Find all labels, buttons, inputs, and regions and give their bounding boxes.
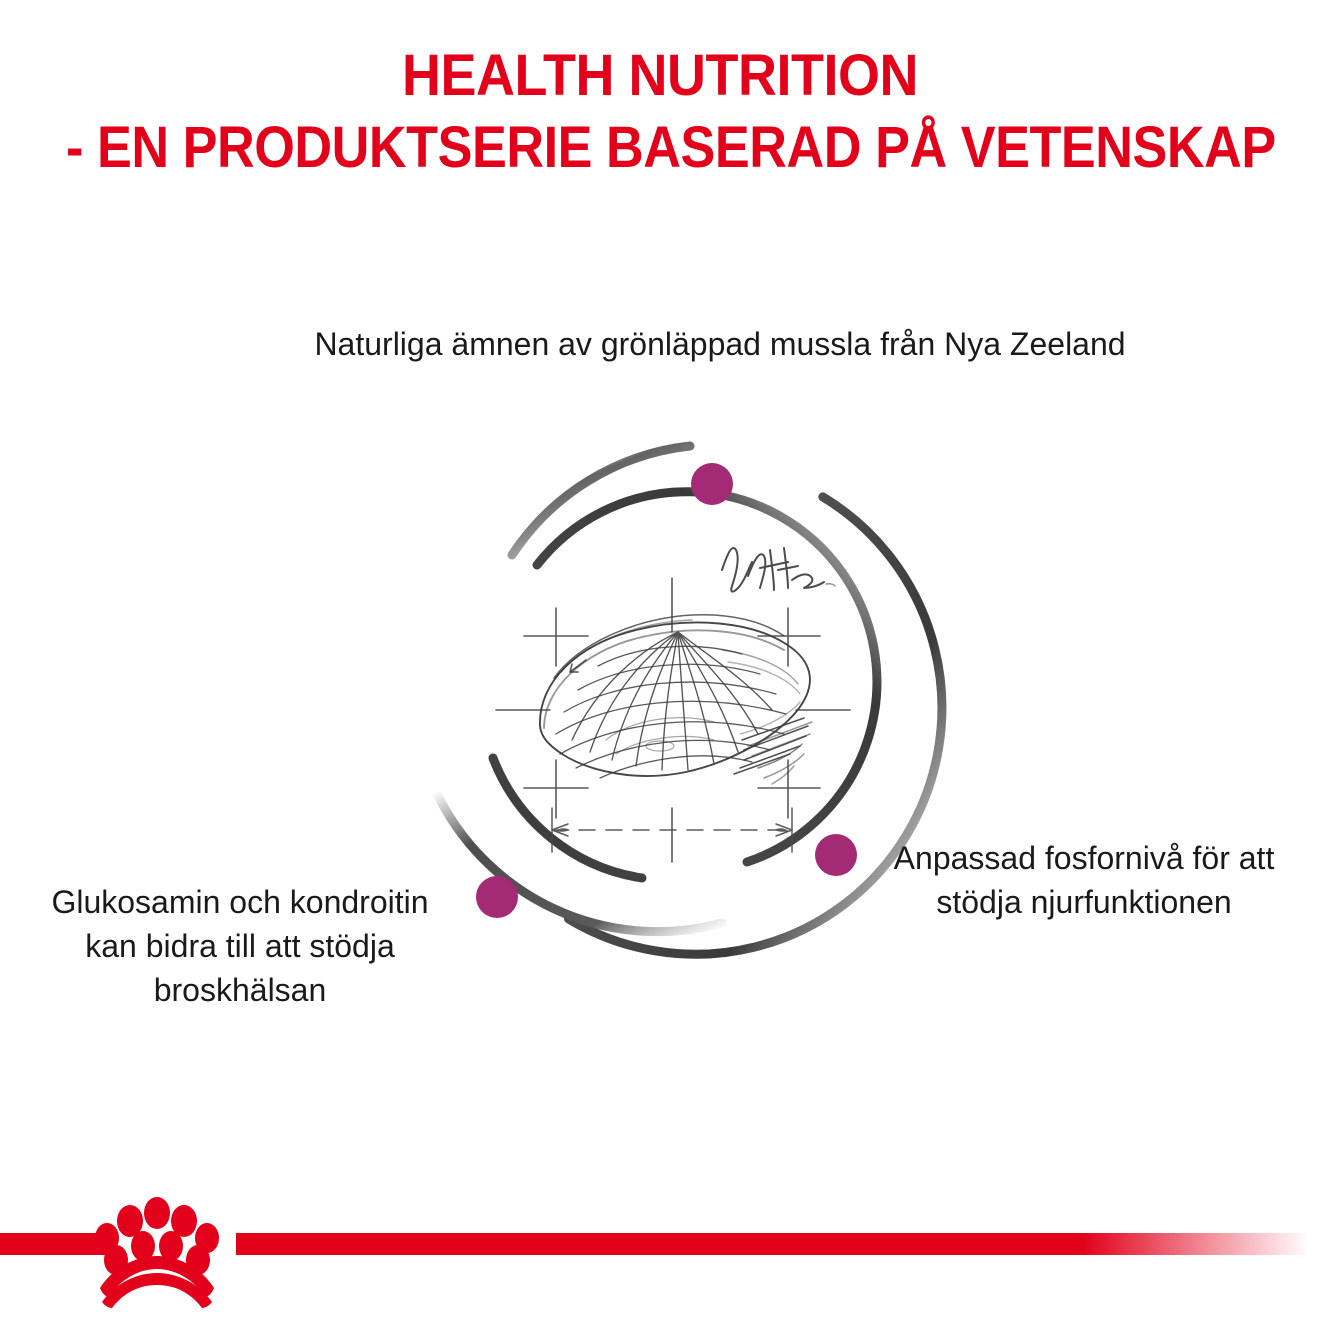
- callout-label-top: Naturliga ämnen av grönläppad mussla frå…: [260, 322, 1180, 366]
- callout-dot-top: [691, 463, 733, 505]
- page-title: HEALTH NUTRITION - EN PRODUKTSERIE BASER…: [0, 40, 1320, 184]
- crown-icon: [95, 1197, 219, 1308]
- meridian-lines: [572, 632, 772, 770]
- footer-bar-right-segment: [236, 1233, 1320, 1255]
- callout-dot-bottom-left: [476, 876, 518, 918]
- handwritten-annotation: [722, 548, 835, 592]
- title-line-1: HEALTH NUTRITION: [46, 40, 1274, 112]
- royal-canin-logo: [92, 1196, 222, 1308]
- callout-dot-right: [815, 834, 857, 876]
- title-line-2: - EN PRODUKTSERIE BASERAD PÅ VETENSKAP: [66, 112, 1254, 184]
- poster-canvas: HEALTH NUTRITION - EN PRODUKTSERIE BASER…: [0, 0, 1320, 1320]
- callout-label-left: Glukosamin och kondroitin kan bidra till…: [30, 880, 450, 1012]
- outer-ring-arcs: [436, 446, 942, 954]
- mussel-sketch-illustration: [496, 548, 850, 862]
- circular-diagram: [392, 410, 952, 970]
